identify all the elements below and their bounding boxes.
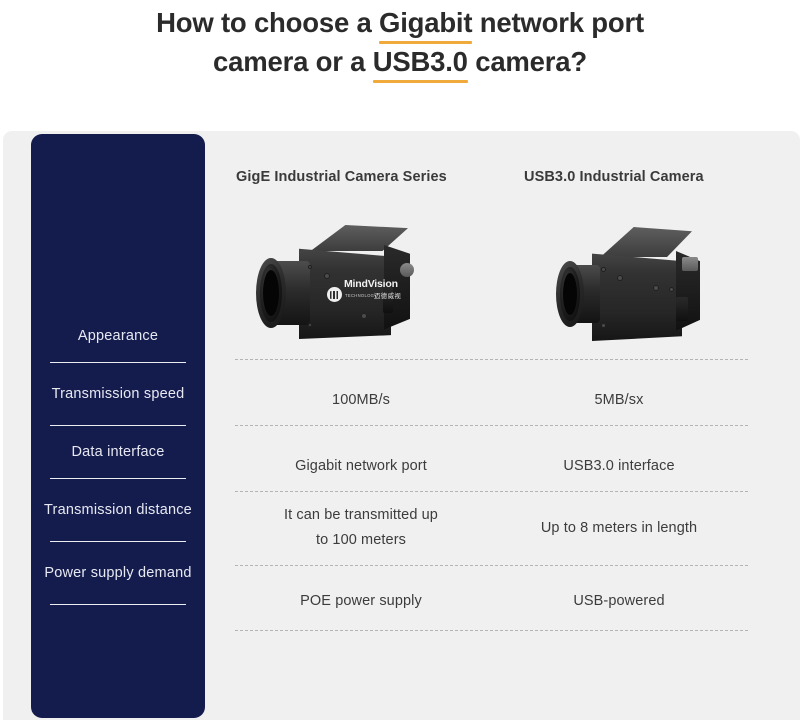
title-line-1: How to choose a Gigabit network port <box>0 4 800 43</box>
sidebar-item-label: Power supply demand <box>44 561 191 586</box>
appearance-cell-usb <box>490 203 748 359</box>
sidebar-item-label: Data interface <box>71 440 164 465</box>
usb3-camera-image <box>552 227 732 343</box>
row-divider <box>235 359 748 360</box>
cell-usb-transmission-speed: 5MB/sx <box>490 375 748 425</box>
sidebar-item-transmission-speed[interactable]: Transmission speed <box>31 363 205 425</box>
column-headers: GigE Industrial Camera Series USB3.0 Ind… <box>232 169 748 185</box>
cell-line-2: to 100 meters <box>284 528 438 553</box>
row-transmission-speed: 100MB/s 5MB/sx <box>232 375 748 425</box>
cell-usb-data-interface: USB3.0 interface <box>490 441 748 491</box>
title-line1-post: network port <box>472 7 644 38</box>
cell-usb-transmission-distance: Up to 8 meters in length <box>490 491 748 565</box>
cell-line-1: It can be transmitted up <box>284 503 438 528</box>
column-header-gige: GigE Industrial Camera Series <box>232 169 460 185</box>
row-transmission-distance: It can be transmitted up to 100 meters U… <box>232 491 748 565</box>
mindvision-logo-icon <box>327 287 342 302</box>
comparison-infographic: How to choose a Gigabit network port cam… <box>0 0 800 720</box>
row-divider <box>235 630 748 631</box>
brand-text-cn: 迈德威视 <box>374 291 401 300</box>
title-highlight-gigabit: Gigabit <box>379 4 472 43</box>
comparison-card: Appearance Transmission speed Data inter… <box>3 131 800 720</box>
sidebar-item-transmission-distance[interactable]: Transmission distance <box>31 479 205 541</box>
cell-gige-transmission-distance: It can be transmitted up to 100 meters <box>232 491 490 565</box>
criteria-list: Appearance Transmission speed Data inter… <box>31 310 205 605</box>
sidebar-item-appearance[interactable]: Appearance <box>31 310 205 362</box>
gige-camera-image: MindVision TECHNOLOGY 迈德威视 <box>248 225 462 345</box>
cell-usb-power-supply: USB-powered <box>490 573 748 629</box>
title-line1-pre: How to choose a <box>156 7 379 38</box>
brand-subtext: TECHNOLOGY <box>345 293 377 298</box>
appearance-row: MindVision TECHNOLOGY 迈德威视 <box>232 203 748 359</box>
column-header-usb: USB3.0 Industrial Camera <box>460 169 748 185</box>
row-power-supply-demand: POE power supply USB-powered <box>232 573 748 629</box>
sidebar-item-label: Transmission speed <box>52 382 185 407</box>
sidebar-item-label: Appearance <box>78 324 158 349</box>
title-line-2: camera or a USB3.0 camera? <box>0 43 800 82</box>
criteria-sidebar: Appearance Transmission speed Data inter… <box>31 134 205 718</box>
cell-gige-power-supply: POE power supply <box>232 573 490 629</box>
row-divider <box>235 565 748 566</box>
row-data-interface: Gigabit network port USB3.0 interface <box>232 441 748 491</box>
brand-text: MindVision <box>344 278 398 290</box>
comparison-columns: GigE Industrial Camera Series USB3.0 Ind… <box>232 131 748 720</box>
title-highlight-usb30: USB3.0 <box>373 43 468 82</box>
page-title: How to choose a Gigabit network port cam… <box>0 4 800 82</box>
cell-gige-data-interface: Gigabit network port <box>232 441 490 491</box>
sidebar-item-data-interface[interactable]: Data interface <box>31 426 205 478</box>
appearance-cell-gige: MindVision TECHNOLOGY 迈德威视 <box>232 203 490 359</box>
sidebar-divider <box>50 604 186 605</box>
cell-gige-transmission-speed: 100MB/s <box>232 375 490 425</box>
title-line2-post: camera? <box>468 46 587 77</box>
title-line2-pre: camera or a <box>213 46 373 77</box>
sidebar-item-label: Transmission distance <box>44 498 192 523</box>
row-divider <box>235 425 748 426</box>
sidebar-item-power-supply-demand[interactable]: Power supply demand <box>31 542 205 604</box>
